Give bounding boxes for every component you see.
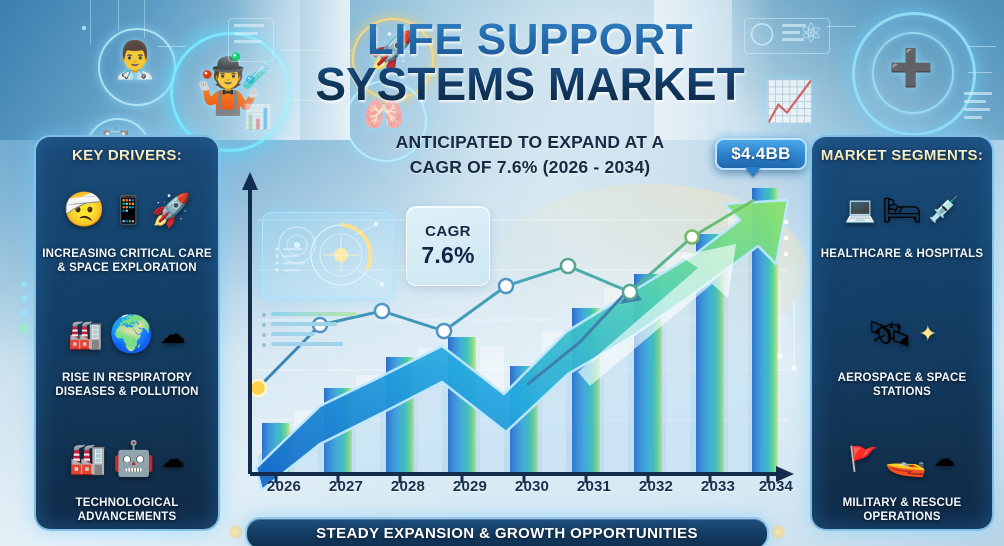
key-driver-item-3: 🏭 🤖 ☁ TECHNOLOGICAL ADVANCEMENTS (40, 422, 214, 525)
key-driver-caption-2: RISE IN RESPIRATORY DISEASES & POLLUTION (40, 371, 214, 400)
marker-2029 (437, 324, 451, 338)
market-segment-item-2: 🛰 ✦ AEROSPACE & SPACE STATIONS (816, 297, 988, 400)
hud-connector (144, 0, 145, 38)
marker-2028 (375, 304, 389, 318)
key-driver-caption-1: INCREASING CRITICAL CARE & SPACE EXPLORA… (40, 247, 214, 276)
legend-dot (262, 343, 266, 347)
bottom-banner: STEADY EXPANSION & GROWTH OPPORTUNITIES (245, 517, 769, 546)
x-label-2029: 2029 (440, 478, 500, 495)
title-line-2: SYSTEMS MARKET (300, 62, 760, 108)
hospital-bed-icon: 🛏 (882, 191, 923, 229)
factory-icon: 🏭 (69, 442, 106, 477)
hud-bar (964, 108, 990, 111)
marker-2026-highlight (250, 380, 266, 396)
x-label-2030: 2030 (502, 478, 562, 495)
rescue-boat-icon: 🚤 (885, 439, 927, 479)
legend-line (271, 322, 337, 326)
marker-2030 (499, 279, 513, 293)
key-driver-art-2: 🏭 🌍 ☁ (40, 297, 214, 371)
x-axis-labels: 2026 2027 2028 2029 2030 2031 2032 2033 … (236, 478, 806, 504)
x-label-2027: 2027 (316, 478, 376, 495)
star-sparkle-icon: ✦ (919, 321, 937, 347)
key-driver-caption-3: TECHNOLOGICAL ADVANCEMENTS (40, 496, 214, 525)
edge-dot (22, 310, 27, 315)
subtitle-line-1: ANTICIPATED TO EXPAND AT A (300, 130, 760, 155)
marker-2033 (686, 231, 699, 244)
factory-smokestack-icon: 🏭 (68, 318, 103, 351)
x-label-2028: 2028 (378, 478, 438, 495)
legend-line (271, 342, 343, 346)
legend-dot (262, 323, 266, 327)
vital-monitor-icon: 📱 (111, 194, 145, 226)
atom-icon: ⚛ (794, 20, 828, 46)
robot-icon: 🤖 (113, 439, 155, 479)
title-line-1: LIFE SUPPORT (367, 15, 693, 64)
x-label-2033: 2033 (688, 478, 748, 495)
y-axis-arrowhead (242, 172, 258, 190)
hud-dashboard-card (262, 212, 394, 299)
key-driver-art-1: 🤕 📱 🚀 (40, 173, 214, 247)
hud-legend-lines (262, 310, 374, 354)
edge-dot (22, 282, 27, 287)
key-drivers-panel: KEY DRIVERS: 🤕 📱 🚀 INCREASING CRITICAL C… (34, 135, 220, 531)
key-drivers-title: KEY DRIVERS: (36, 147, 218, 164)
cagr-value: 7.6% (421, 242, 474, 269)
key-driver-item-2: 🏭 🌍 ☁ RISE IN RESPIRATORY DISEASES & POL… (40, 297, 214, 400)
x-label-2032: 2032 (626, 478, 686, 495)
rocket-icon: 🚀 (151, 191, 191, 229)
marker-2032 (623, 285, 637, 299)
ring-spacer (82, 26, 86, 30)
flag-icon: 🚩 (849, 445, 879, 474)
legend-dot (262, 333, 266, 337)
key-driver-item-1: 🤕 📱 🚀 INCREASING CRITICAL CARE & SPACE E… (40, 173, 214, 276)
iv-drip-icon: 💉 (928, 196, 959, 225)
hud-connector (118, 0, 119, 30)
market-segment-caption-3: MILITARY & RESCUE OPERATIONS (816, 496, 988, 525)
market-segment-art-2: 🛰 ✦ (816, 297, 988, 371)
legend-line (271, 312, 357, 316)
hud-connector (826, 26, 856, 27)
x-label-2034: 2034 (746, 478, 806, 495)
cloud-icon: ☁ (933, 446, 955, 472)
edge-dot (22, 296, 27, 301)
market-segment-item-3: 🚩 🚤 ☁ MILITARY & RESCUE OPERATIONS (816, 422, 988, 525)
banner-glow-left (228, 524, 244, 540)
smoke-cloud-icon: ☁ (161, 445, 185, 474)
legend-line (271, 332, 315, 336)
hud-dashboard-svg (263, 213, 393, 298)
market-segment-caption-2: AEROSPACE & SPACE STATIONS (816, 371, 988, 400)
edge-dot (21, 325, 28, 332)
hud-bar (964, 100, 986, 103)
marker-2031 (561, 259, 575, 273)
hud-bar (964, 116, 982, 119)
hud-connector (90, 0, 91, 44)
market-segment-item-1: 💻 🛏 💉 HEALTHCARE & HOSPITALS (816, 173, 988, 261)
cagr-stat-card: CAGR 7.6% (406, 206, 490, 286)
patient-monitor-icon: 💻 (845, 196, 876, 225)
medical-cross-icon: ➕ (888, 50, 934, 86)
doctor-ventilator-icon: 🤕 (63, 190, 105, 230)
hud-connector (968, 72, 992, 73)
hud-bar (964, 92, 992, 95)
satellite-icon: 🛰 (867, 313, 913, 355)
market-segments-title: MARKET SEGMENTS: (812, 147, 992, 164)
x-label-2031: 2031 (564, 478, 624, 495)
page-title: LIFE SUPPORT SYSTEMS MARKET (300, 18, 760, 107)
x-label-2026: 2026 (254, 478, 314, 495)
cloud-pollution-icon: ☁ (160, 319, 186, 350)
market-value-badge: $4.4BB (715, 138, 807, 170)
hud-connector (968, 46, 996, 47)
market-segments-panel: MARKET SEGMENTS: 💻 🛏 💉 HEALTHCARE & HOSP… (810, 135, 994, 531)
market-segment-art-3: 🚩 🚤 ☁ (816, 422, 988, 496)
cagr-label: CAGR (425, 223, 471, 240)
doctor-icon: 👨‍⚕ (110, 42, 160, 78)
legend-dot (262, 313, 266, 317)
globe-earth-icon: 🌍 (109, 313, 154, 355)
market-segment-art-1: 💻 🛏 💉 (816, 173, 988, 247)
key-driver-art-3: 🏭 🤖 ☁ (40, 422, 214, 496)
hud-connector (158, 46, 186, 47)
infographic-root: 👨‍⚕ 📋 🤹 🚀 🫁 🧪 📊 ◯ ⚛ 📈 ➕ (0, 0, 1004, 546)
banner-glow-right (770, 524, 786, 540)
market-segment-caption-1: HEALTHCARE & HOSPITALS (816, 247, 988, 261)
